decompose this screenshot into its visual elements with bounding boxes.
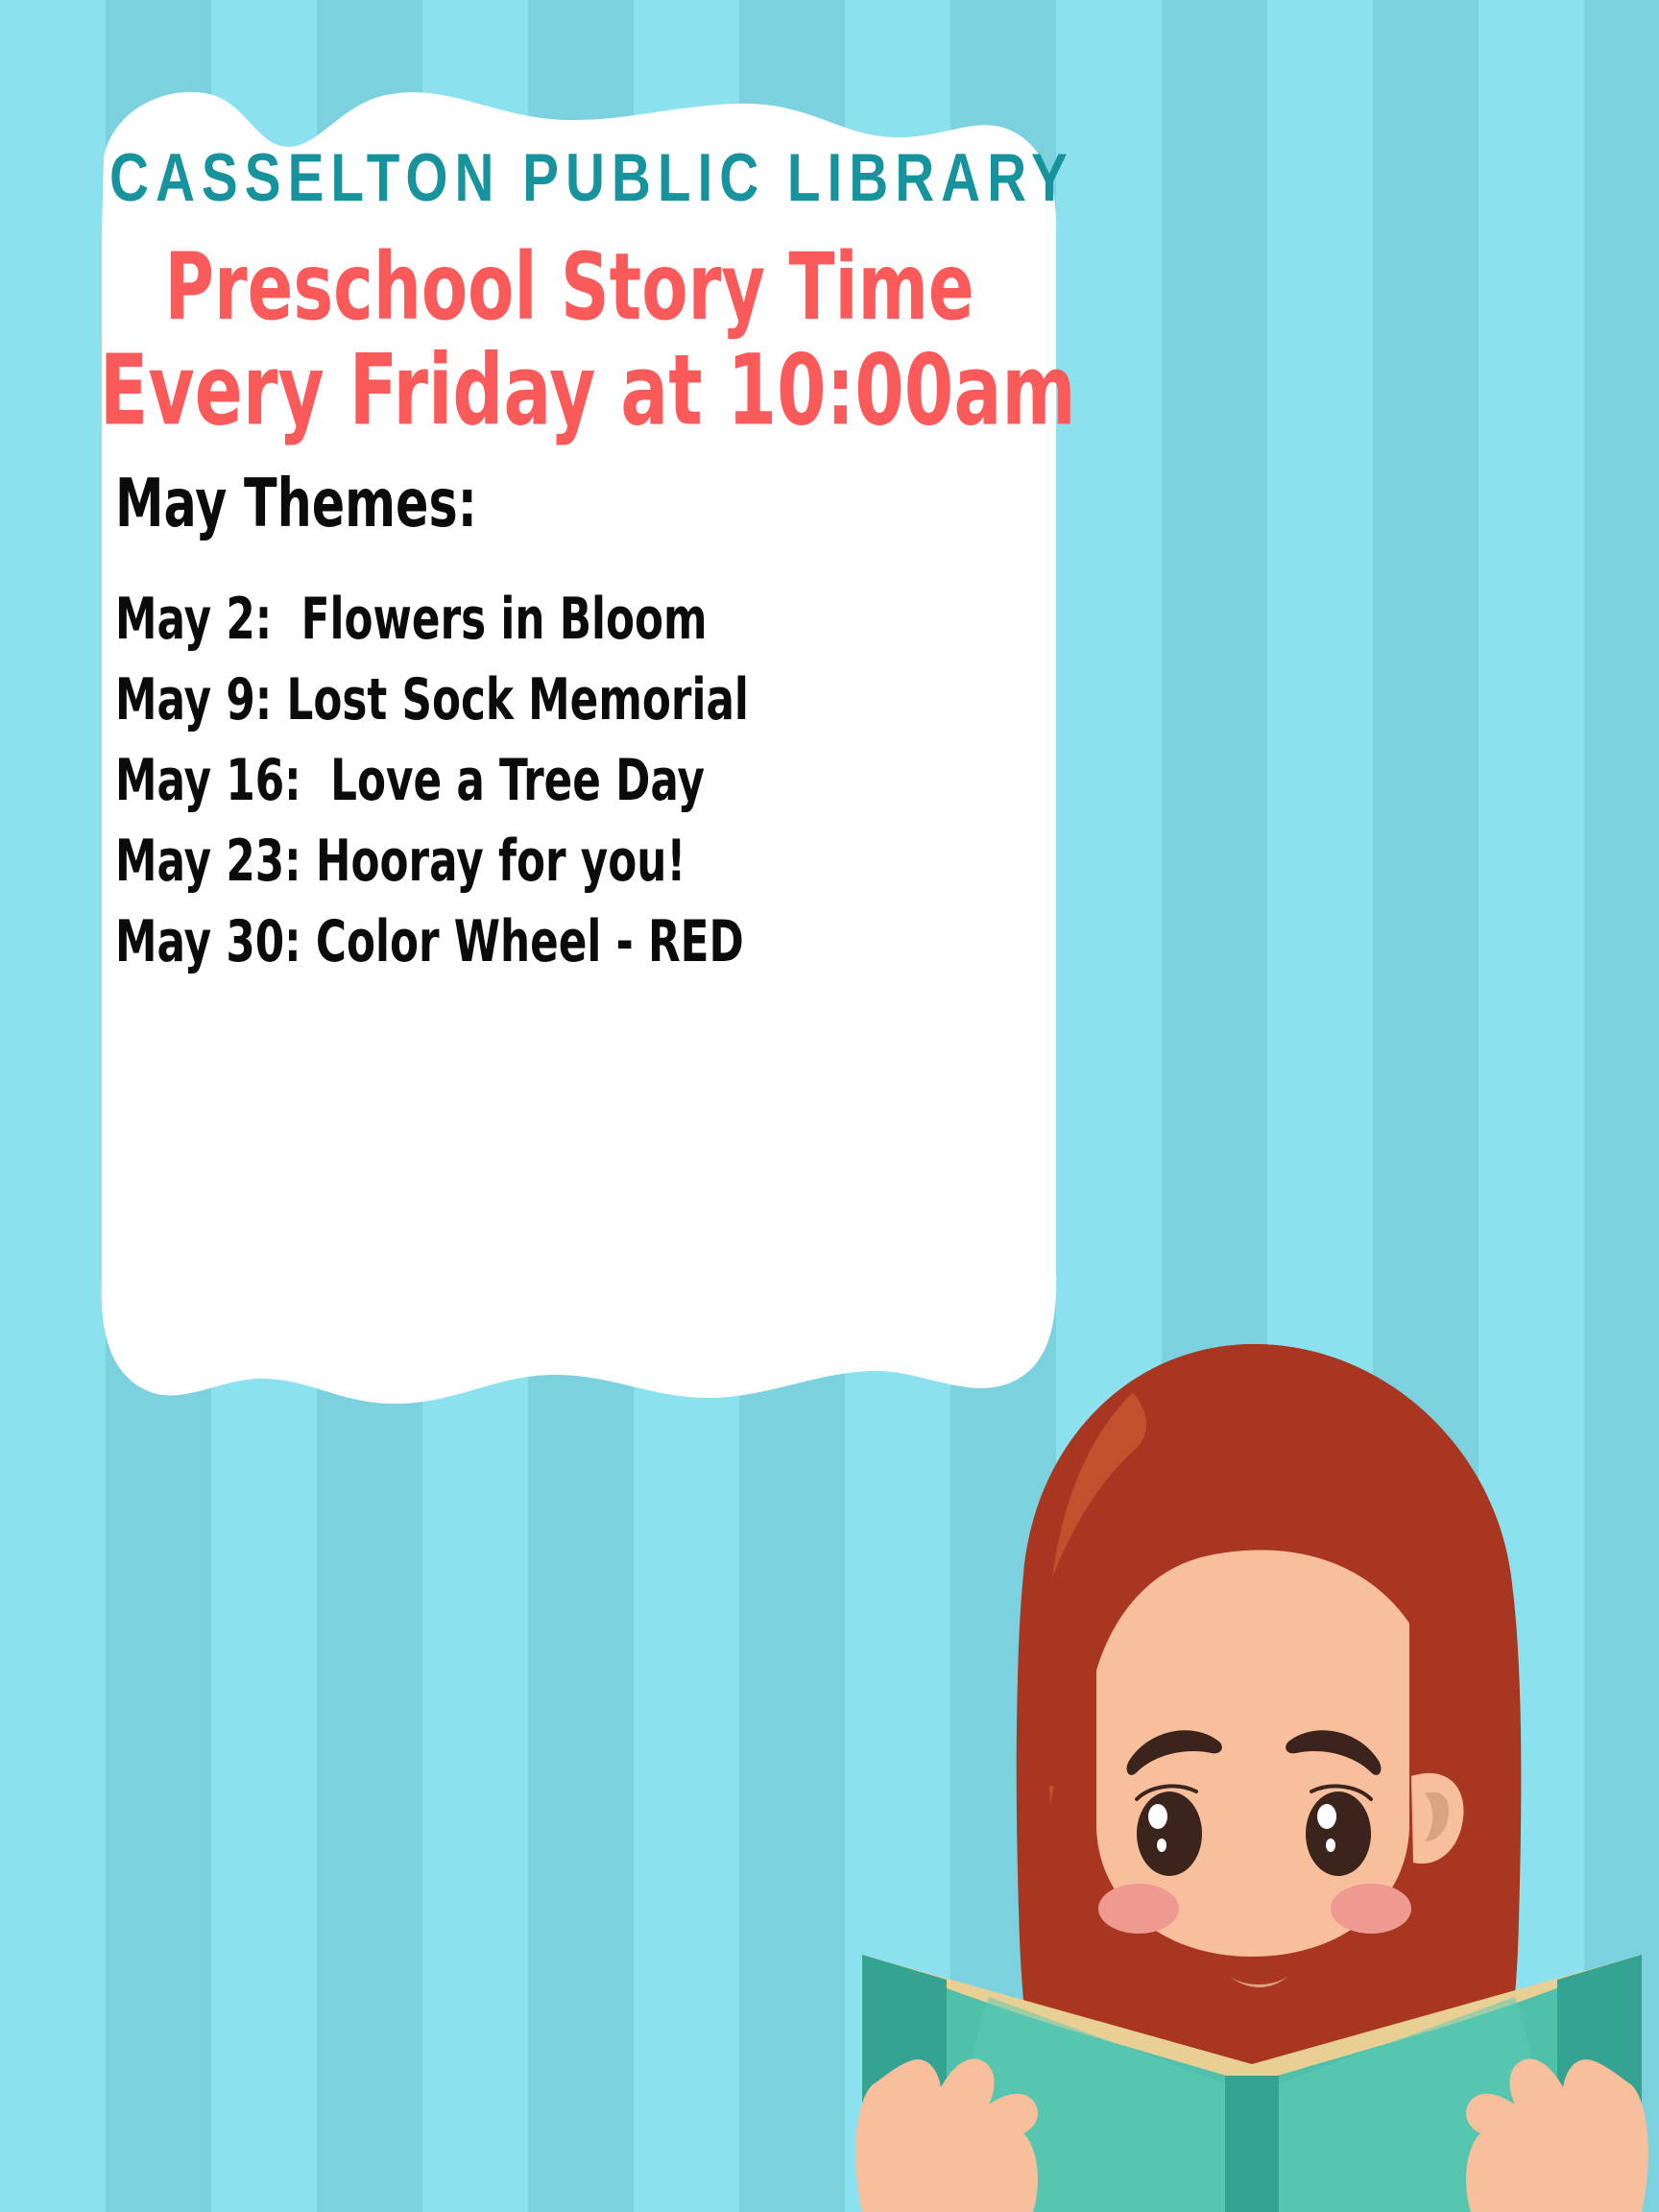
blush-right <box>1331 1884 1411 1934</box>
poster-canvas: CASSELTON PUBLIC LIBRARY Preschool Story… <box>0 0 1659 2212</box>
headline-line-1: Preschool Story Time <box>100 239 1040 339</box>
library-name-heading: CASSELTON PUBLIC LIBRARY <box>109 138 1029 216</box>
card-content: CASSELTON PUBLIC LIBRARY Preschool Story… <box>75 81 1064 1444</box>
theme-list-item: May 30: Color Wheel - RED <box>115 892 990 995</box>
eye-right <box>1306 1791 1371 1876</box>
headline-line-2: Every Friday at 10:00am <box>100 339 1040 445</box>
theme-list: May 2: Flowers in Bloom May 9: Lost Sock… <box>115 580 1056 983</box>
girl-reading-illustration <box>845 1325 1659 2212</box>
themes-heading: May Themes: <box>115 465 477 542</box>
book-spine <box>1225 2076 1279 2212</box>
eye-left <box>1137 1791 1202 1876</box>
blush-left <box>1098 1884 1179 1934</box>
girl-reading-svg <box>845 1325 1659 2212</box>
event-headline: Preschool Story Time Every Friday at 10:… <box>100 239 1040 444</box>
